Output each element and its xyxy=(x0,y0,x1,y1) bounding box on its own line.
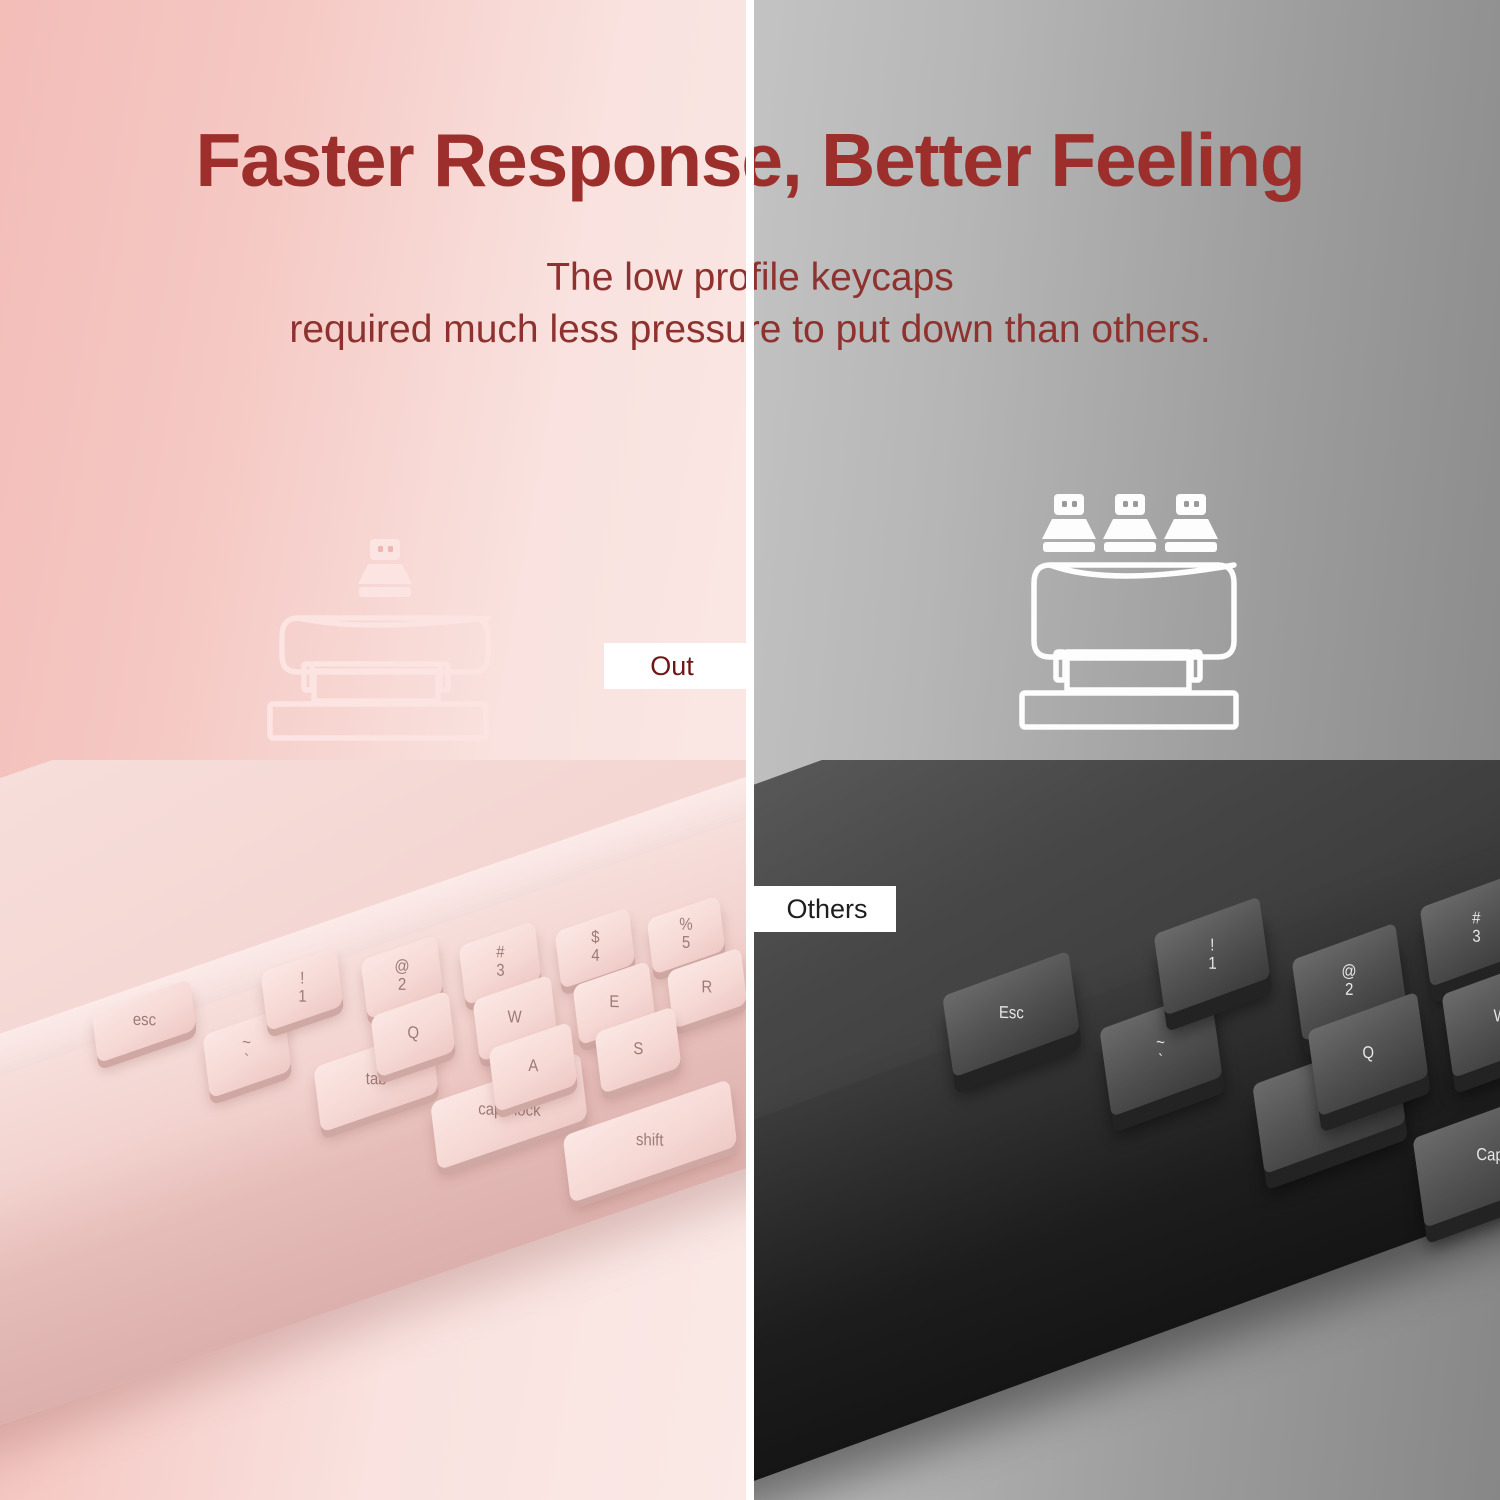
promo-banner: esc~`tabcaps lockshift!1@2#3$4%5QWERAS E… xyxy=(0,0,1500,1500)
panel-divider xyxy=(746,0,754,1500)
detached-keycap-2 xyxy=(1103,494,1157,552)
keycap-label: $4 xyxy=(591,930,600,966)
keycap-label: E xyxy=(609,994,619,1012)
keycap-label: shift xyxy=(636,1132,664,1151)
low-profile-keycap-diagram xyxy=(258,533,528,748)
keycap-label: Q xyxy=(407,1025,419,1043)
keycap-label: ~` xyxy=(242,1035,251,1071)
keycap-label: Esc xyxy=(998,1005,1023,1024)
detached-keycap-3 xyxy=(1164,494,1218,552)
black-keyboard-photo: Esc~`TabCaps!1@2#3QW xyxy=(754,760,1500,1500)
detached-keycap-1 xyxy=(1042,494,1096,552)
pink-keyboard-photo: esc~`tabcaps lockshift!1@2#3$4%5QWERAS xyxy=(0,760,746,1500)
keycap-label: A xyxy=(528,1058,538,1076)
detached-keycap-1 xyxy=(358,539,412,597)
keycap-label: !1 xyxy=(298,971,307,1007)
keycap-label: ~` xyxy=(1156,1035,1165,1071)
keycap-label: S xyxy=(633,1041,643,1059)
keycap-label: esc xyxy=(132,1012,155,1031)
keycap-label: @2 xyxy=(394,959,409,995)
keycap-label: #3 xyxy=(1472,911,1481,947)
keycap-label: Q xyxy=(1362,1045,1374,1063)
keycap-label: #3 xyxy=(496,945,505,981)
keycap-label: W xyxy=(1494,1008,1500,1026)
badge-out-label: Out xyxy=(650,651,694,682)
badge-out: Out xyxy=(604,643,746,689)
keycap-label: @2 xyxy=(1341,964,1356,1000)
keycap-label: Caps xyxy=(1477,1147,1500,1166)
keycap-label: !1 xyxy=(1208,938,1217,974)
tall-keycap-diagram xyxy=(1012,478,1284,740)
keycap-label: W xyxy=(508,1009,522,1027)
badge-others-label: Others xyxy=(786,894,867,925)
keycap-label: R xyxy=(702,979,713,997)
badge-others: Others xyxy=(754,886,896,932)
keycap-label: %5 xyxy=(679,917,693,953)
